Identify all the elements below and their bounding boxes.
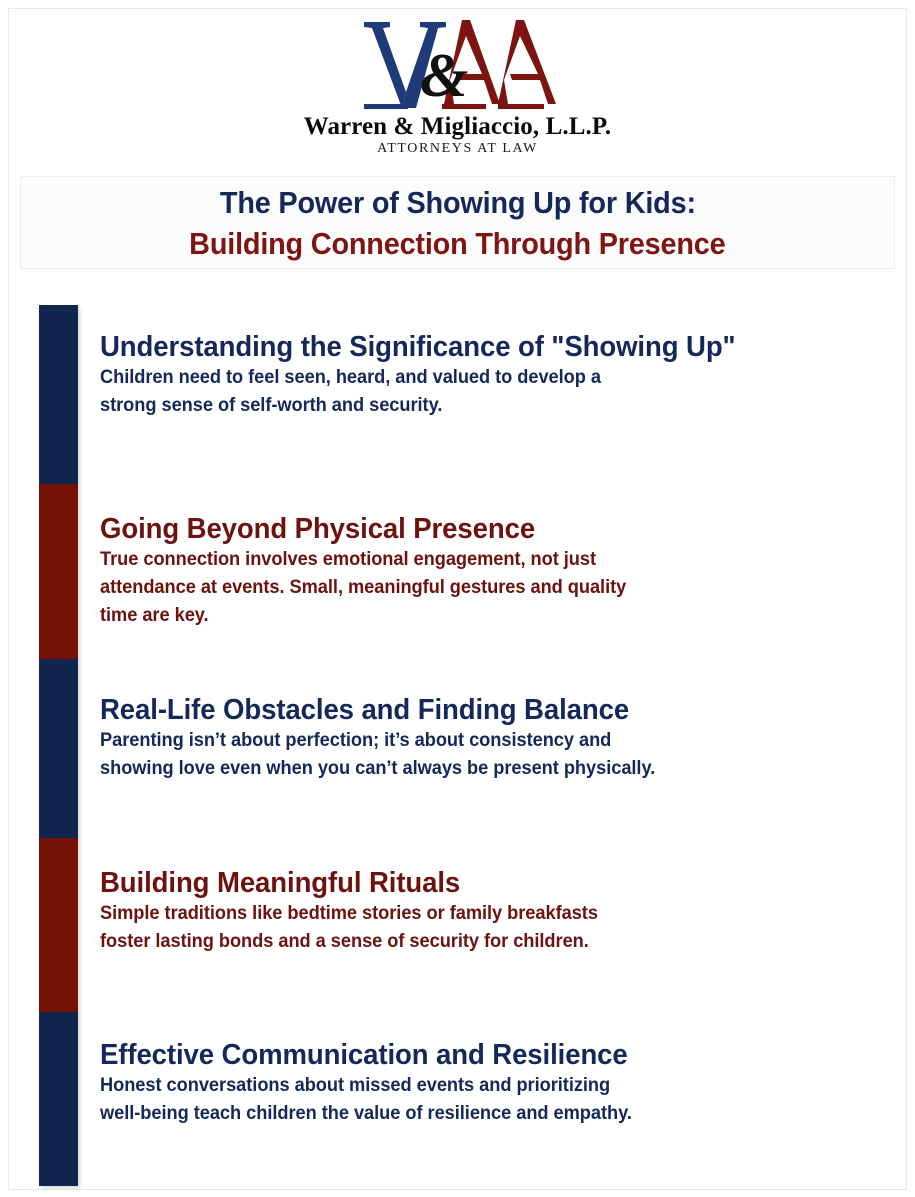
section-3-body: Parenting isn’t about perfection; it’s a… xyxy=(100,727,858,783)
section-4-heading: Building Meaningful Rituals xyxy=(100,866,851,900)
firm-tagline: ATTORNEYS AT LAW xyxy=(0,141,915,157)
section-4-body: Simple traditions like bedtime stories o… xyxy=(100,900,858,956)
section-2-body: True connection involves emotional engag… xyxy=(100,546,858,630)
accent-rail-segment-4 xyxy=(39,838,78,1012)
firm-logo: & Warren & Migliaccio, L.L.P. ATTORNEYS … xyxy=(0,16,915,157)
accent-rail-segment-2 xyxy=(39,484,78,659)
section-3: Real-Life Obstacles and Finding Balance … xyxy=(100,693,890,783)
svg-text:&: & xyxy=(420,42,468,110)
wm-monogram-icon: & xyxy=(350,16,565,112)
section-1-body: Children need to feel seen, heard, and v… xyxy=(100,364,858,420)
section-1: Understanding the Significance of "Showi… xyxy=(100,330,890,420)
title-card: The Power of Showing Up for Kids: Buildi… xyxy=(20,176,895,269)
section-5-body: Honest conversations about missed events… xyxy=(100,1072,858,1128)
accent-rail-segment-5 xyxy=(39,1012,78,1186)
section-3-heading: Real-Life Obstacles and Finding Balance xyxy=(100,693,851,727)
section-2-heading: Going Beyond Physical Presence xyxy=(100,512,851,546)
section-5: Effective Communication and Resilience H… xyxy=(100,1038,890,1128)
section-5-heading: Effective Communication and Resilience xyxy=(100,1038,851,1072)
firm-name: Warren & Migliaccio, L.L.P. xyxy=(0,114,915,140)
section-2: Going Beyond Physical Presence True conn… xyxy=(100,512,890,630)
infographic-page: & Warren & Migliaccio, L.L.P. ATTORNEYS … xyxy=(0,0,915,1197)
accent-rail-segment-1 xyxy=(39,305,78,484)
section-4: Building Meaningful Rituals Simple tradi… xyxy=(100,866,890,956)
page-title-line1: The Power of Showing Up for Kids: xyxy=(220,182,696,223)
page-title-line2: Building Connection Through Presence xyxy=(189,223,725,264)
section-1-heading: Understanding the Significance of "Showi… xyxy=(100,330,851,364)
accent-rail-segment-3 xyxy=(39,659,78,838)
accent-rail xyxy=(39,305,78,1186)
